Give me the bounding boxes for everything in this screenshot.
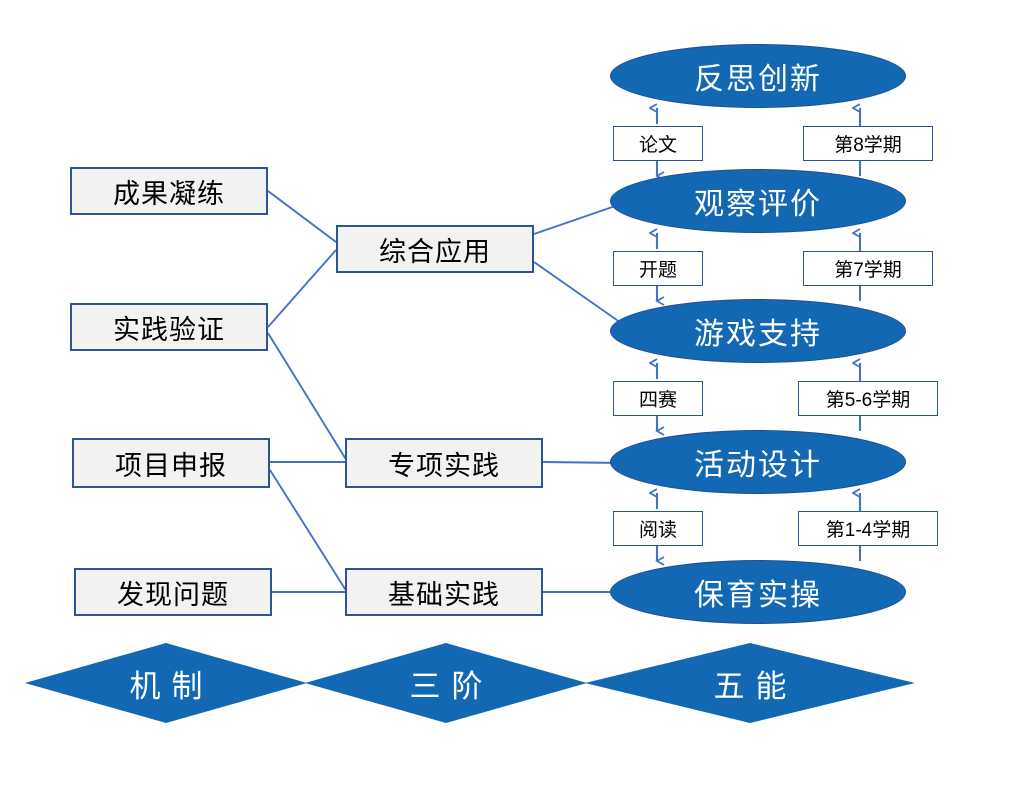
box-practice-verify-label: 实践验证: [113, 308, 225, 347]
label-four-contests[interactable]: 四赛: [613, 381, 703, 416]
ellipse-game-support-label: 游戏支持: [694, 309, 822, 353]
box-special-practice-label: 专项实践: [388, 444, 500, 483]
label-reading[interactable]: 阅读: [613, 511, 703, 546]
ellipse-activity-design-label: 活动设计: [694, 440, 822, 484]
box-project-apply-label: 项目申报: [115, 444, 227, 483]
box-achievement-label: 成果凝练: [113, 172, 225, 211]
label-term-8[interactable]: 第8学期: [803, 126, 933, 161]
box-find-problem[interactable]: 发现问题: [74, 568, 272, 616]
label-term-7[interactable]: 第7学期: [803, 251, 933, 286]
box-achievement[interactable]: 成果凝练: [70, 167, 268, 215]
label-term-5-6[interactable]: 第5-6学期: [798, 381, 938, 416]
ellipse-reflect-innovate-label: 反思创新: [694, 54, 822, 98]
label-thesis-text: 论文: [639, 130, 677, 157]
diagram-canvas: 成果凝练 实践验证 项目申报 发现问题 综合应用 专项实践 基础实践 反思创新 …: [0, 0, 1014, 787]
ellipse-reflect-innovate[interactable]: 反思创新: [610, 44, 906, 108]
line-comprehensive-to-observe: [534, 203, 624, 234]
line-comprehensive-to-game: [534, 262, 624, 325]
box-find-problem-label: 发现问题: [117, 573, 229, 612]
label-four-contests-text: 四赛: [639, 385, 677, 412]
ellipse-game-support[interactable]: 游戏支持: [610, 299, 906, 363]
label-proposal-text: 开题: [639, 255, 677, 282]
box-project-apply[interactable]: 项目申报: [72, 438, 270, 488]
line-verify-to-special: [268, 333, 347, 461]
line-achievement-to-comprehensive: [268, 191, 336, 242]
label-term-8-text: 第8学期: [834, 130, 902, 157]
ellipse-observe-evaluate-label: 观察评价: [694, 179, 822, 223]
diamond-three-stage-label: 三阶: [399, 661, 494, 706]
line-verify-to-comprehensive: [268, 250, 336, 327]
label-term-1-4[interactable]: 第1-4学期: [798, 511, 938, 546]
diamond-five-ability-label: 五能: [703, 661, 798, 706]
label-thesis[interactable]: 论文: [613, 126, 703, 161]
diamond-mechanism-label: 机制: [119, 661, 214, 706]
box-practice-verify[interactable]: 实践验证: [70, 303, 268, 351]
line-project-to-basic: [270, 470, 347, 592]
box-basic-practice-label: 基础实践: [388, 573, 500, 612]
ellipse-care-practice-label: 保育实操: [694, 570, 822, 614]
label-term-5-6-text: 第5-6学期: [826, 385, 910, 412]
box-basic-practice[interactable]: 基础实践: [345, 568, 543, 616]
box-comprehensive[interactable]: 综合应用: [336, 225, 534, 273]
ellipse-activity-design[interactable]: 活动设计: [610, 430, 906, 494]
label-term-7-text: 第7学期: [834, 255, 902, 282]
ellipse-care-practice[interactable]: 保育实操: [610, 560, 906, 624]
box-comprehensive-label: 综合应用: [379, 230, 491, 269]
label-reading-text: 阅读: [639, 515, 677, 542]
ellipse-observe-evaluate[interactable]: 观察评价: [610, 169, 906, 233]
label-term-1-4-text: 第1-4学期: [826, 515, 910, 542]
box-special-practice[interactable]: 专项实践: [345, 438, 543, 488]
label-proposal[interactable]: 开题: [613, 251, 703, 286]
